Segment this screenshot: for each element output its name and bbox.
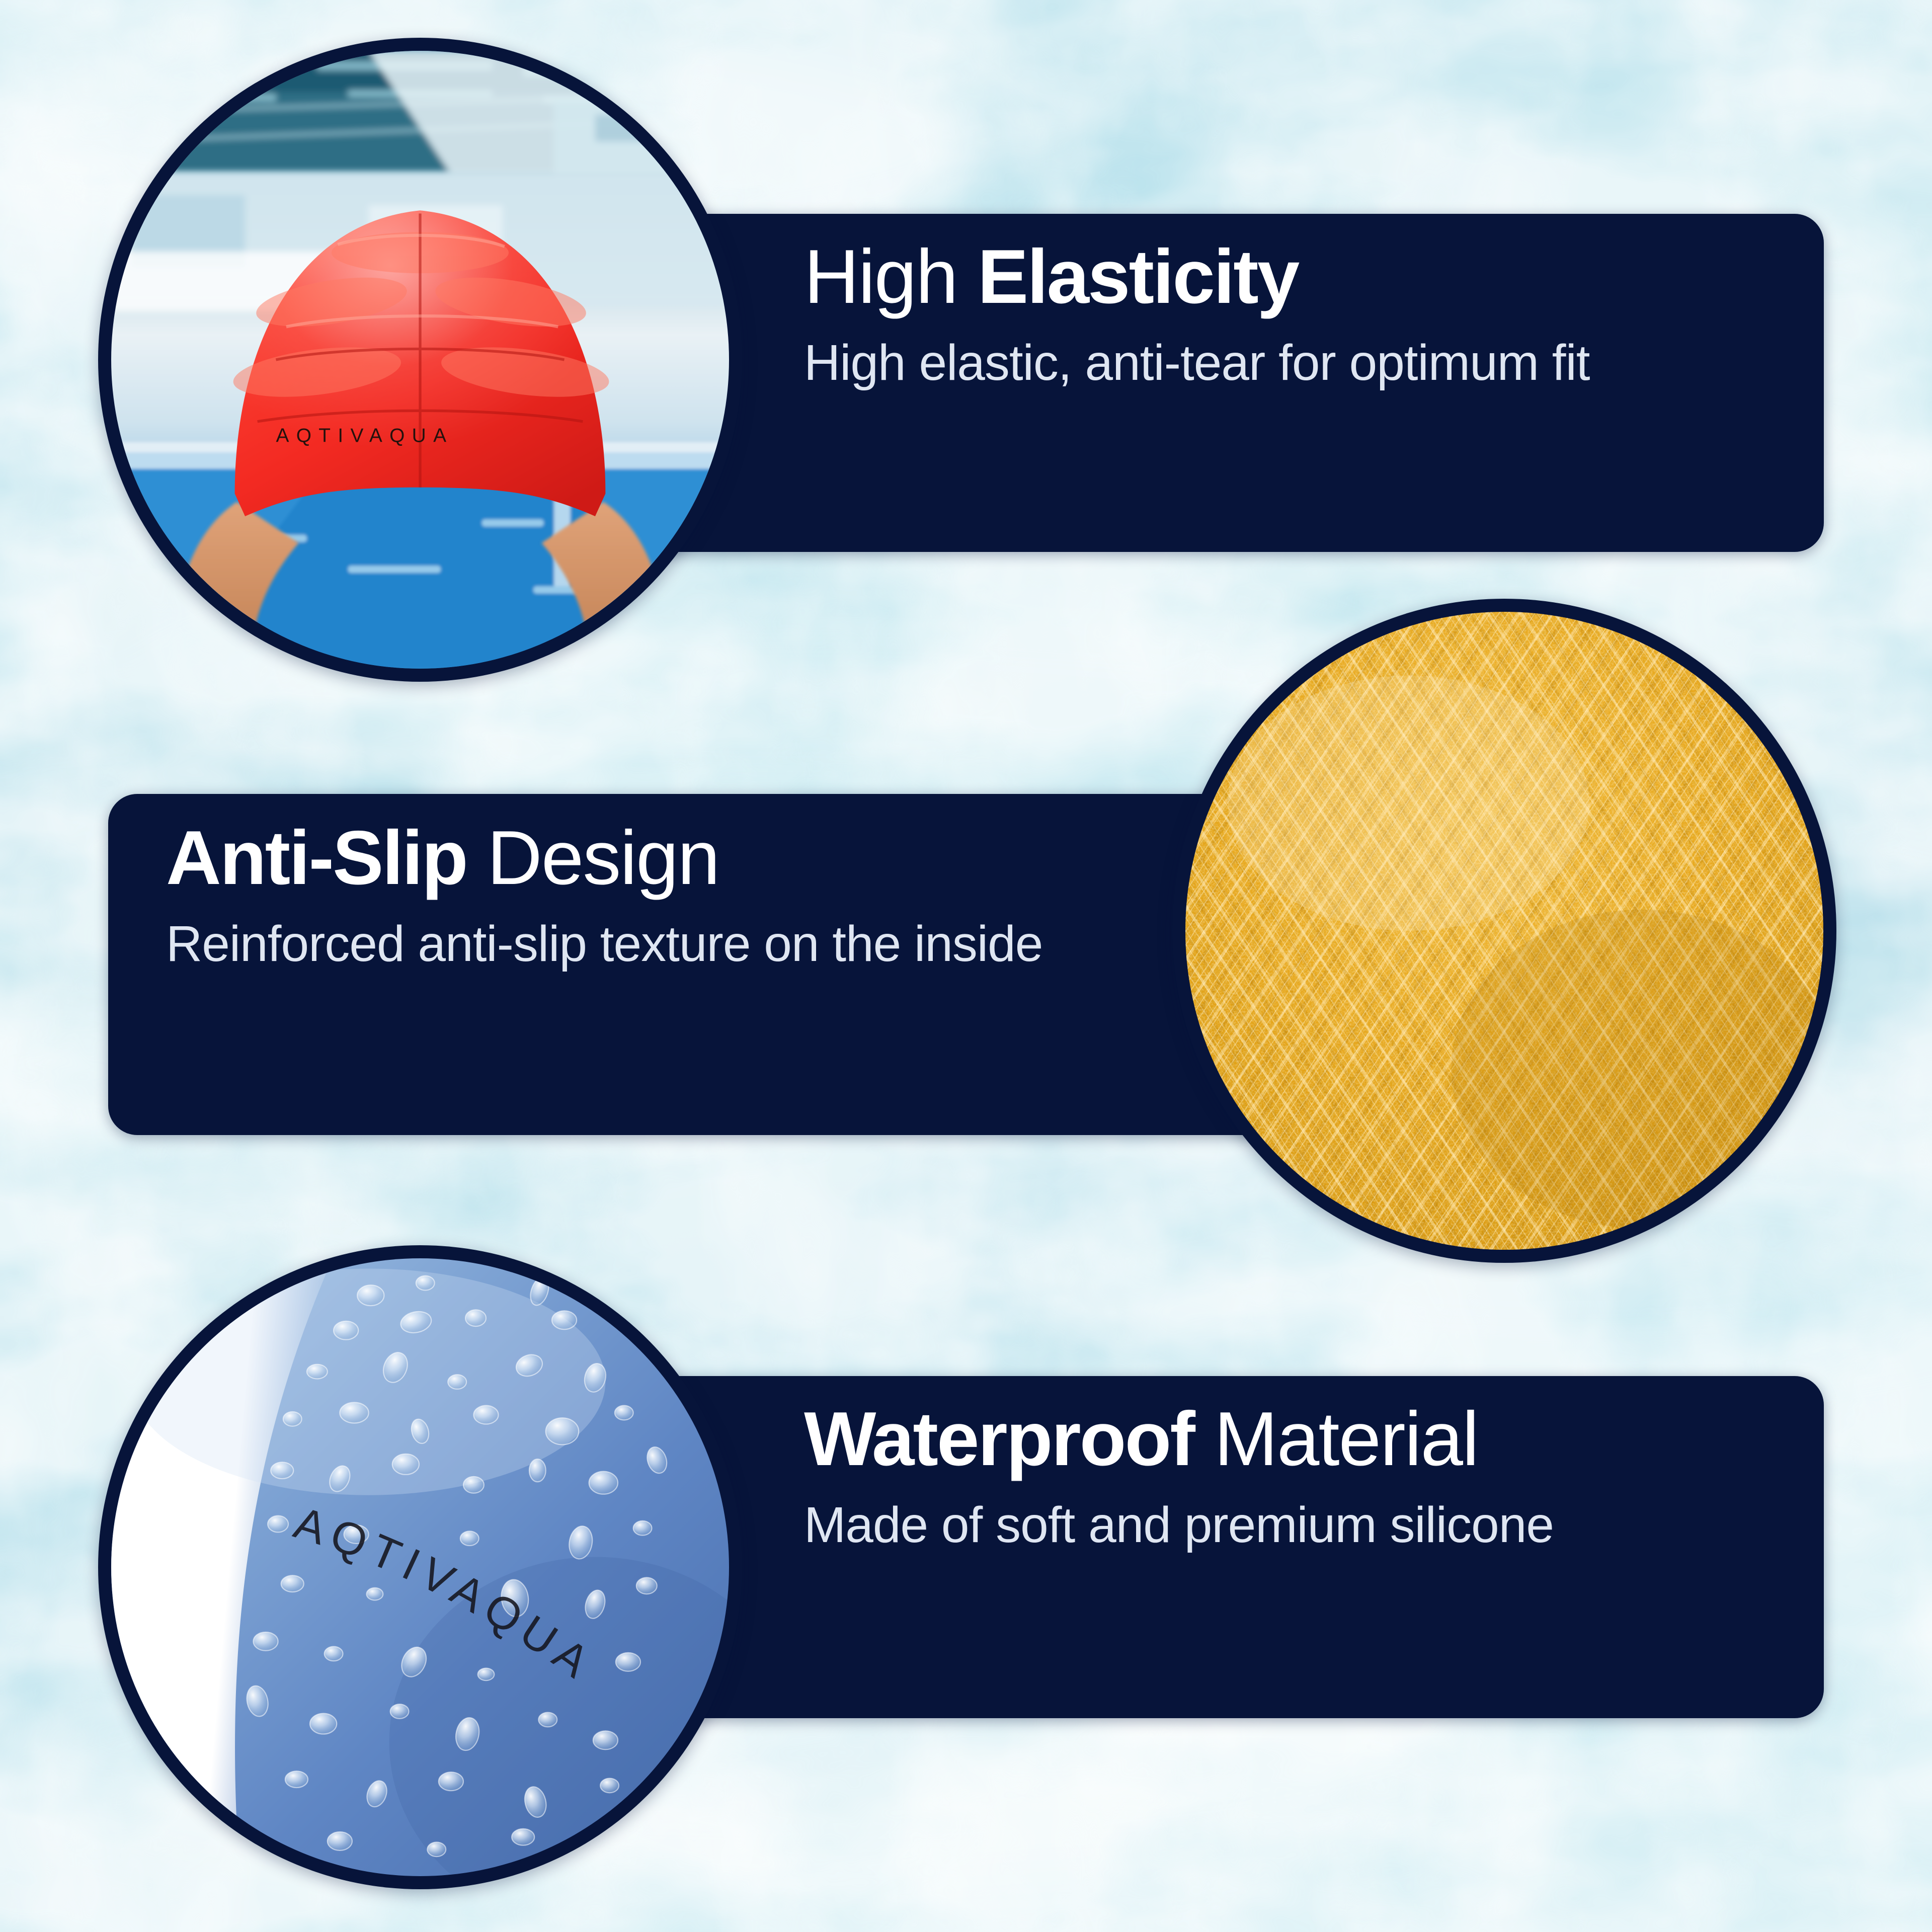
feature-title-3-light: Material [1194,1396,1478,1482]
feature-text-block-2: Anti-Slip Design Reinforced anti-slip te… [166,818,1122,974]
feature-image-circle-1: AQTIVAQUA [98,38,742,682]
feature-title-2-light: Design [467,815,719,901]
feature-subtitle-1: High elastic, anti-tear for optimum fit [804,333,1760,393]
feature-title-3-bold: Waterproof [804,1396,1194,1482]
feature-text-block-3: Waterproof Material Made of soft and pre… [804,1399,1790,1555]
feature-title-3: Waterproof Material [804,1399,1790,1480]
blue-swim-cap-water-droplets-photo: AQTIVAQUA [111,1258,729,1876]
feature-image-circle-2 [1172,599,1836,1263]
gold-anti-slip-texture-closeup [1185,612,1823,1250]
feature-image-circle-3: AQTIVAQUA [98,1245,742,1889]
red-swim-cap-photo: AQTIVAQUA [111,51,729,669]
feature-subtitle-2: Reinforced anti-slip texture on the insi… [166,914,1122,974]
feature-subtitle-3: Made of soft and premium silicone [804,1495,1790,1555]
feature-title-2: Anti-Slip Design [166,818,1122,899]
feature-title-2-bold: Anti-Slip [166,815,467,901]
feature-title-1-bold: Elasticity [978,234,1298,319]
cap-brand-text-red: AQTIVAQUA [276,425,453,447]
feature-title-1: High Elasticity [804,236,1760,317]
feature-text-block-1: High Elasticity High elastic, anti-tear … [804,236,1760,393]
feature-title-1-light: High [804,234,978,319]
